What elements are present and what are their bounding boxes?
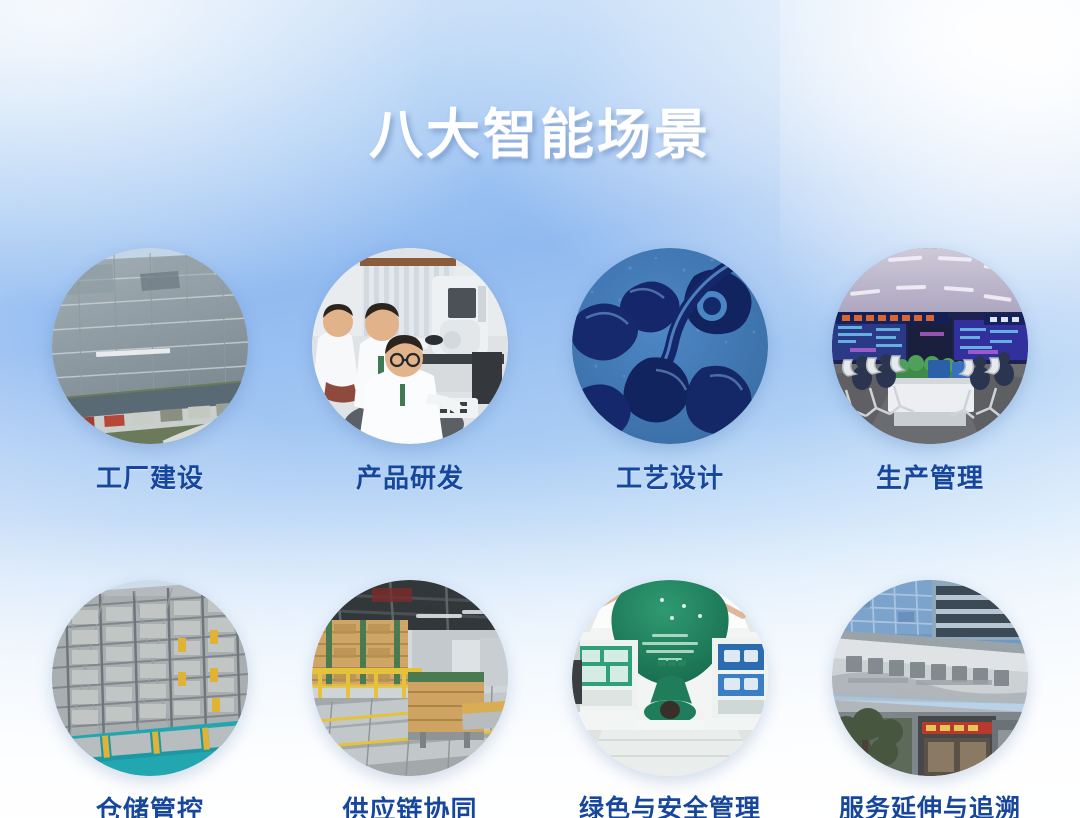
scene-label: 仓储管控 bbox=[96, 796, 204, 818]
scene-card-process[interactable]: 工艺设计 bbox=[570, 248, 770, 493]
scene-label: 工艺设计 bbox=[616, 464, 724, 493]
automated-warehouse-racking-icon[interactable] bbox=[52, 580, 248, 776]
green-exhibition-hall-icon[interactable] bbox=[572, 580, 768, 776]
scene-label: 供应链协同 bbox=[342, 796, 477, 818]
scene-label: 工厂建设 bbox=[96, 464, 204, 493]
smart-manufacturing-control-room-icon[interactable] bbox=[832, 248, 1028, 444]
scene-label: 产品研发 bbox=[356, 464, 464, 493]
scene-card-rnd[interactable]: 产品研发 bbox=[310, 248, 510, 493]
scene-card-production[interactable]: 生产管理 bbox=[830, 248, 1030, 493]
scene-label: 绿色与安全管理 bbox=[579, 796, 761, 818]
smart-home-center-building-icon[interactable] bbox=[832, 580, 1028, 776]
scene-row-1: 工厂建设 bbox=[50, 248, 1030, 493]
scene-card-factory[interactable]: 工厂建设 bbox=[50, 248, 250, 493]
blue-floral-carpet-pattern-icon[interactable] bbox=[572, 248, 768, 444]
page-title: 八大智能场景 bbox=[0, 108, 1080, 162]
scene-card-green-safety[interactable]: 绿色与安全管理 bbox=[570, 580, 770, 818]
lab-researchers-microscope-icon[interactable] bbox=[312, 248, 508, 444]
scene-row-2: 仓储管控 bbox=[50, 580, 1030, 818]
scene-label: 服务延伸与追溯 bbox=[839, 796, 1021, 818]
factory-aerial-solar-roof-icon[interactable] bbox=[52, 248, 248, 444]
scene-card-supplychain[interactable]: 供应链协同 bbox=[310, 580, 510, 818]
scene-card-service[interactable]: 服务延伸与追溯 bbox=[830, 580, 1030, 818]
poster-canvas: 八大智能场景 bbox=[0, 0, 1080, 818]
scene-card-warehouse[interactable]: 仓储管控 bbox=[50, 580, 250, 818]
warehouse-conveyor-pallets-icon[interactable] bbox=[312, 580, 508, 776]
scene-label: 生产管理 bbox=[876, 464, 984, 493]
scene-grid: 工厂建设 bbox=[50, 248, 1030, 818]
